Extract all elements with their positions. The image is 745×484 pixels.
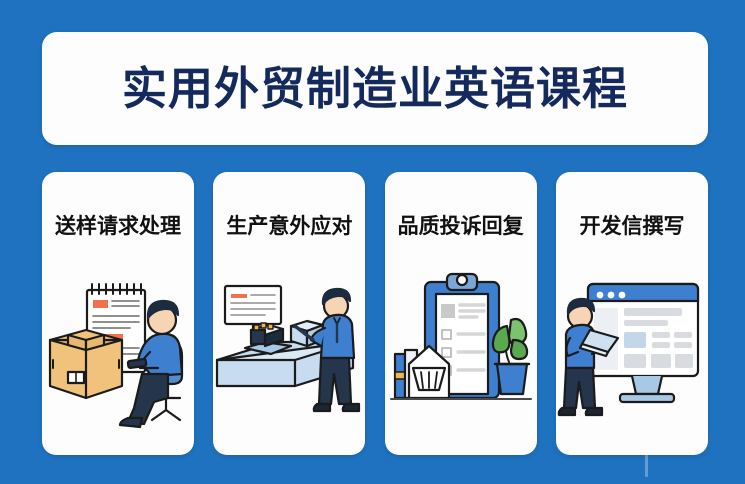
- clipboard-checklist-plant-illustration: [385, 268, 537, 443]
- package-desk-worker-illustration: [42, 268, 194, 443]
- feature-card-title: 送样请求处理: [42, 216, 194, 237]
- feature-card-title: 品质投诉回复: [385, 216, 537, 237]
- production-line-worker-illustration: [213, 268, 365, 443]
- feature-card-row: 送样请求处理: [42, 172, 708, 455]
- monitor-laptop-worker-illustration: [556, 268, 708, 443]
- feature-card-outreach-email[interactable]: 开发信撰写: [556, 172, 708, 455]
- poster-canvas: 实用外贸制造业英语课程 送样请求处理: [0, 0, 745, 484]
- page-title: 实用外贸制造业英语课程: [122, 66, 628, 111]
- watermark-artifact: [645, 455, 648, 477]
- feature-card-title: 开发信撰写: [556, 216, 708, 237]
- title-banner: 实用外贸制造业英语课程: [42, 32, 708, 145]
- feature-card-production-incident[interactable]: 生产意外应对: [213, 172, 365, 455]
- feature-card-quality-complaint[interactable]: 品质投诉回复: [385, 172, 537, 455]
- feature-card-sample-request[interactable]: 送样请求处理: [42, 172, 194, 455]
- feature-card-title: 生产意外应对: [213, 216, 365, 237]
